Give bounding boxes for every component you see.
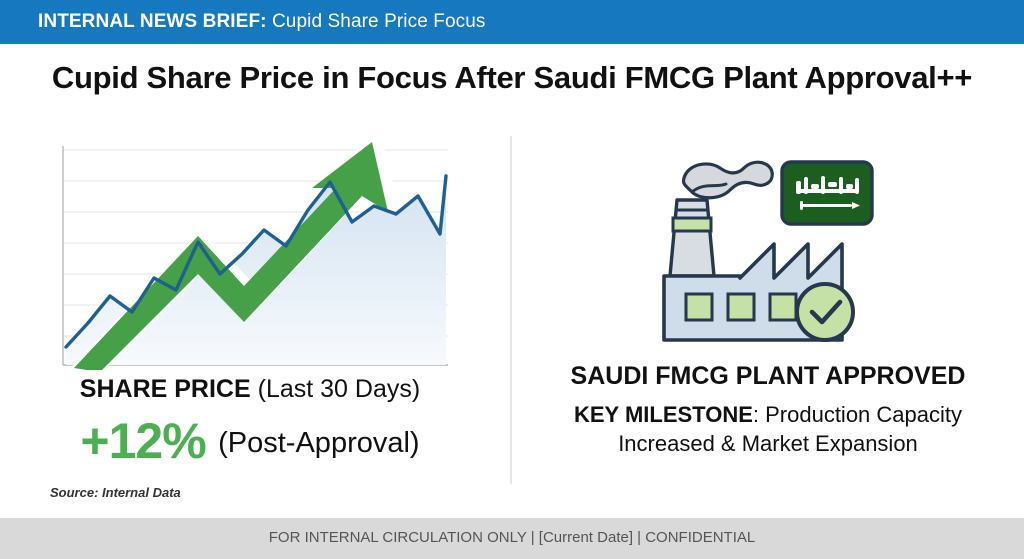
check-circle-icon (797, 284, 853, 340)
milestone-text: KEY MILESTONE: Production Capacity Incre… (532, 400, 1004, 458)
header-title: INTERNAL NEWS BRIEF: Cupid Share Price F… (38, 11, 486, 33)
approval-headline: SAUDI FMCG PLANT APPROVED (512, 362, 1024, 391)
header-subject: Cupid Share Price Focus (272, 11, 486, 32)
header-label: INTERNAL NEWS BRIEF: (38, 11, 267, 32)
milestone-label: KEY MILESTONE (574, 402, 753, 427)
page-title: Cupid Share Price in Focus After Saudi F… (0, 60, 1024, 96)
header-bar: INTERNAL NEWS BRIEF: Cupid Share Price F… (0, 0, 1024, 44)
metric-label: SHARE PRICE (Last 30 Days) (0, 375, 500, 404)
share-price-chart-svg (48, 138, 458, 370)
factory-approved-graphic (660, 144, 886, 354)
source-note: Source: Internal Data (50, 485, 181, 500)
change-context: (Post-Approval) (210, 427, 419, 459)
metric-label-bold: SHARE PRICE (80, 375, 251, 403)
saudi-flag-icon (782, 162, 872, 224)
footer-bar: FOR INTERNAL CIRCULATION ONLY | [Current… (0, 518, 1024, 559)
smoke-icon (683, 162, 772, 198)
metric-label-period: (Last 30 Days) (258, 375, 421, 403)
factory-graphic-svg (660, 144, 886, 349)
news-brief-slide: INTERNAL NEWS BRIEF: Cupid Share Price F… (0, 0, 1024, 559)
footer-disclaimer: FOR INTERNAL CIRCULATION ONLY | [Current… (0, 529, 1024, 546)
change-row: +12% (Post-Approval) (0, 416, 500, 466)
share-price-chart (48, 138, 458, 368)
share-price-panel: SHARE PRICE (Last 30 Days) +12% (Post-Ap… (0, 130, 500, 510)
smokestack-icon (670, 200, 714, 276)
plant-approval-panel: SAUDI FMCG PLANT APPROVED KEY MILESTONE:… (512, 130, 1024, 510)
change-value: +12% (80, 413, 205, 469)
